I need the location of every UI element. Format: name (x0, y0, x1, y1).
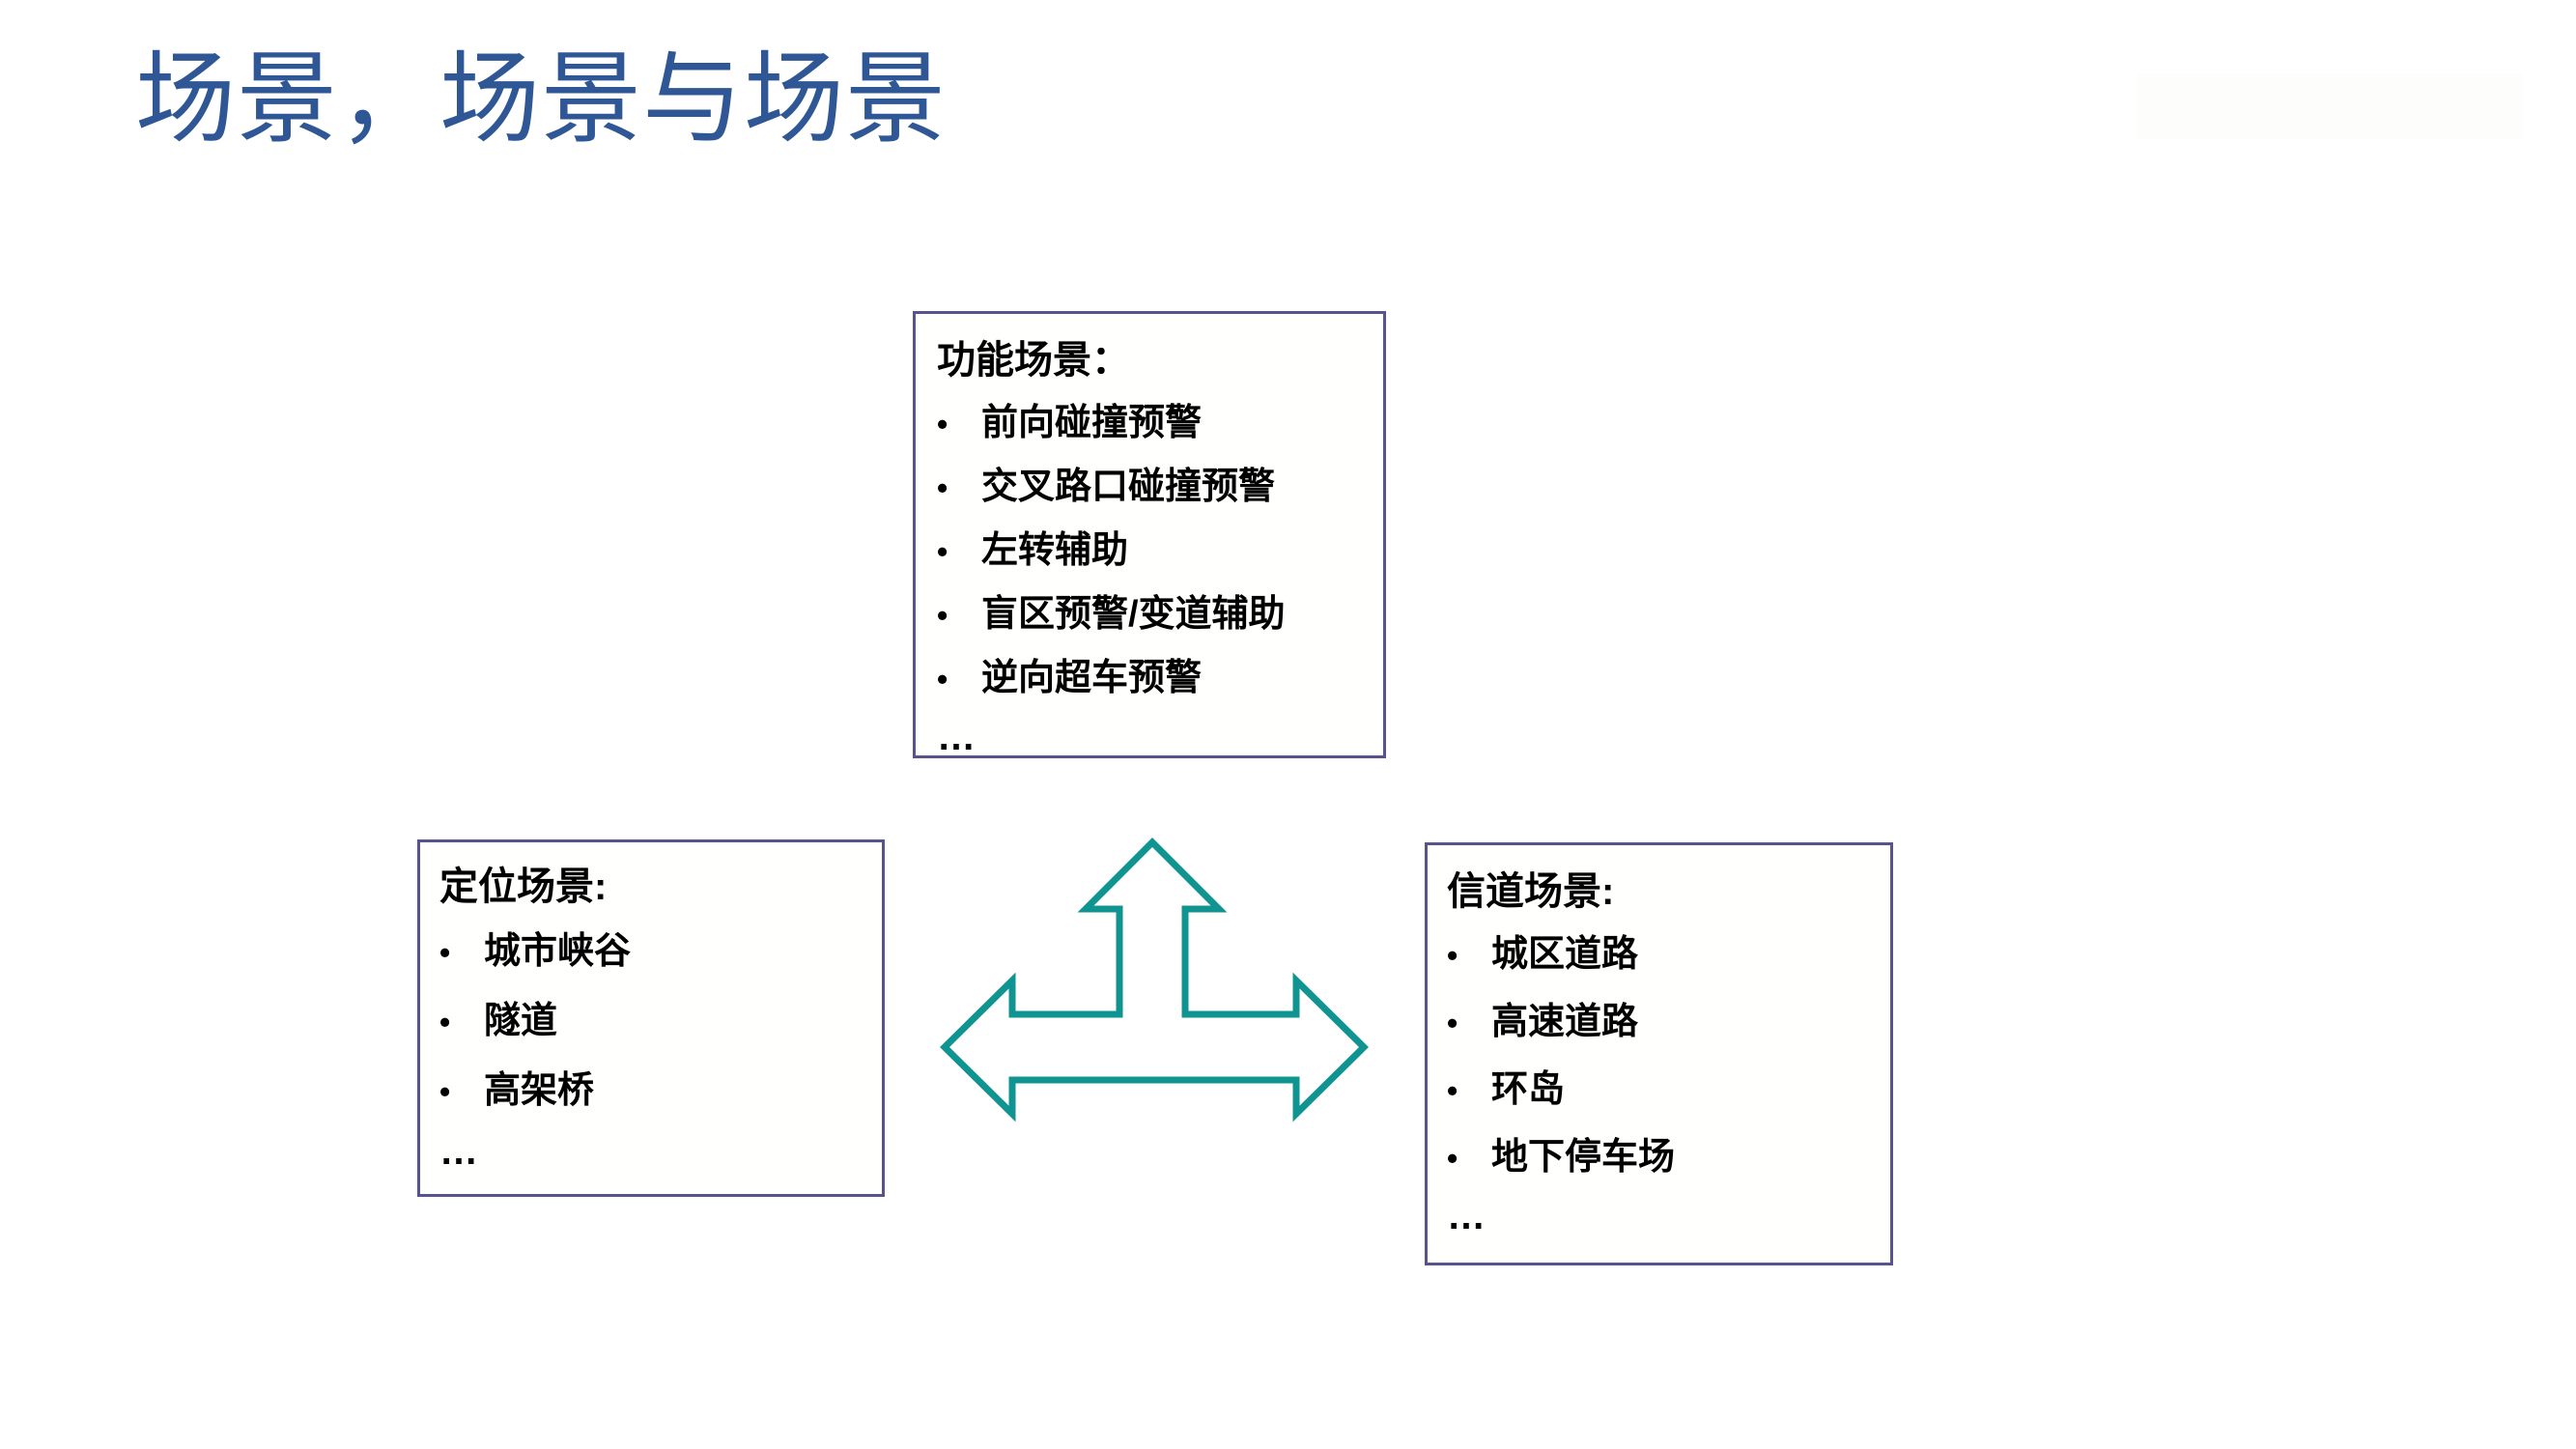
bullet-icon: • (439, 937, 484, 968)
bullet-icon: • (937, 536, 981, 567)
positioning-scenario-list: • 城市峡谷 • 隧道 • 高架桥 (439, 933, 882, 1109)
list-item: • 城市峡谷 (439, 933, 882, 970)
page-title: 场景，场景与场景 (135, 41, 947, 159)
bullet-icon: • (937, 472, 981, 503)
channel-scenario-box: 信道场景: • 城区道路 • 高速道路 • 环岛 • 地下停车场 … (1425, 842, 1893, 1265)
bullet-icon: • (937, 409, 981, 440)
function-scenario-list: • 前向碰撞预警 • 交叉路口碰撞预警 • 左转辅助 • 盲区预警/变道辅助 •… (937, 405, 1383, 696)
list-item-label: 高速道路 (1491, 1004, 1638, 1040)
bullet-icon: • (1447, 940, 1491, 971)
list-item: • 盲区预警/变道辅助 (937, 596, 1383, 633)
list-item: • 左转辅助 (937, 532, 1383, 569)
bullet-icon: • (1447, 1075, 1491, 1106)
positioning-scenario-ellipsis: … (439, 1132, 882, 1171)
channel-scenario-list: • 城区道路 • 高速道路 • 环岛 • 地下停车场 (1447, 936, 1890, 1176)
positioning-scenario-title: 定位场景: (439, 864, 882, 910)
slide-canvas: 场景，场景与场景 功能场景： • 前向碰撞预警 • 交叉路口碰撞预警 • 左转辅… (0, 0, 2576, 1449)
bullet-icon: • (937, 664, 981, 695)
function-scenario-title: 功能场景： (937, 337, 1383, 384)
function-scenario-ellipsis: … (937, 718, 1383, 756)
function-scenario-box: 功能场景： • 前向碰撞预警 • 交叉路口碰撞预警 • 左转辅助 • 盲区预警/… (913, 311, 1386, 758)
bullet-icon: • (439, 1076, 484, 1107)
list-item-label: 盲区预警/变道辅助 (981, 596, 1286, 633)
list-item: • 交叉路口碰撞预警 (937, 469, 1383, 505)
channel-scenario-ellipsis: … (1447, 1197, 1890, 1236)
list-item-label: 城市峡谷 (484, 933, 631, 970)
list-item-label: 逆向超车预警 (981, 660, 1202, 696)
list-item-label: 左转辅助 (981, 532, 1128, 569)
list-item-label: 地下停车场 (1491, 1139, 1675, 1176)
list-item: • 城区道路 (1447, 936, 1890, 973)
list-item: • 地下停车场 (1447, 1139, 1890, 1176)
list-item-label: 环岛 (1491, 1071, 1565, 1108)
bullet-icon: • (937, 600, 981, 631)
list-item-label: 高架桥 (484, 1072, 594, 1109)
bullet-icon: • (1447, 1008, 1491, 1038)
three-way-arrow-icon (932, 833, 1376, 1132)
watermark-block (2137, 73, 2523, 139)
list-item-label: 城区道路 (1491, 936, 1638, 973)
list-item: • 逆向超车预警 (937, 660, 1383, 696)
list-item-label: 交叉路口碰撞预警 (981, 469, 1275, 505)
bullet-icon: • (439, 1007, 484, 1037)
list-item-label: 隧道 (484, 1003, 557, 1039)
list-item: • 高速道路 (1447, 1004, 1890, 1040)
list-item: • 前向碰撞预警 (937, 405, 1383, 441)
bullet-icon: • (1447, 1143, 1491, 1174)
channel-scenario-title: 信道场景: (1447, 868, 1890, 915)
list-item: • 环岛 (1447, 1071, 1890, 1108)
list-item-label: 前向碰撞预警 (981, 405, 1202, 441)
list-item: • 隧道 (439, 1003, 882, 1039)
positioning-scenario-box: 定位场景: • 城市峡谷 • 隧道 • 高架桥 … (417, 839, 885, 1197)
list-item: • 高架桥 (439, 1072, 882, 1109)
